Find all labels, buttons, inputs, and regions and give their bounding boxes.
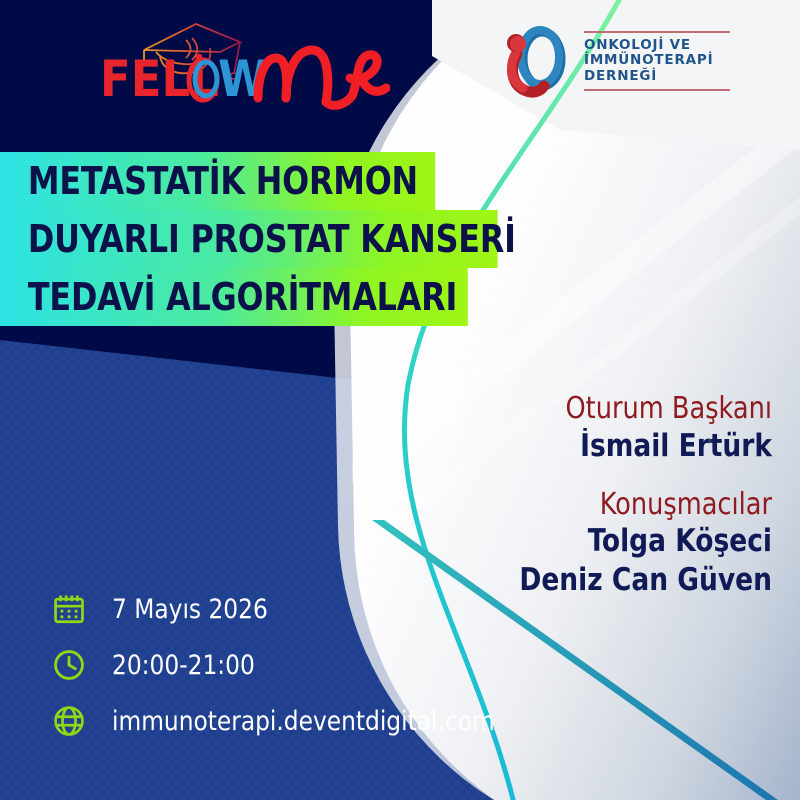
- calendar-icon: [52, 592, 86, 626]
- event-date: 7 Mayıs 2026: [112, 594, 268, 625]
- association-logo: ONKOLOJİ VE İMMÜNOTERAPİ DERNEĞİ: [498, 20, 718, 102]
- speakers-gap: [352, 466, 772, 488]
- page-title: METASTATİK HORMON DUYARLI PROSTAT KANSER…: [0, 152, 535, 326]
- fellowme-logo: FELL W: [100, 18, 390, 110]
- speaker-name-1: Tolga Köşeci: [373, 522, 772, 561]
- title-line-2: DUYARLI PROSTAT KANSERİ: [0, 210, 498, 268]
- clock-icon: [52, 648, 86, 682]
- globe-icon: [52, 704, 86, 738]
- chair-name: İsmail Ertürk: [373, 427, 772, 466]
- speakers-block: Oturum Başkanı İsmail Ertürk Konuşmacıla…: [352, 392, 772, 600]
- assoc-rule-top: [584, 31, 730, 33]
- assoc-line-3: DERNEĞİ: [584, 69, 730, 85]
- info-row-website[interactable]: immunoterapi.deventdigital.com: [52, 704, 511, 738]
- title-line-3: TEDAVİ ALGORİTMALARI: [0, 268, 468, 326]
- info-row-date: 7 Mayıs 2026: [52, 592, 511, 626]
- assoc-lines: ONKOLOJİ VE İMMÜNOTERAPİ DERNEĞİ: [584, 35, 730, 88]
- chair-label: Oturum Başkanı: [373, 392, 772, 427]
- assoc-rule-bottom: [584, 89, 730, 91]
- event-info: 7 Mayıs 2026 20:00-21:00 immunoterapi.de…: [52, 592, 511, 738]
- event-website[interactable]: immunoterapi.deventdigital.com: [112, 706, 495, 737]
- association-logo-text: ONKOLOJİ VE İMMÜNOTERAPİ DERNEĞİ: [584, 31, 730, 91]
- event-poster: FELL W: [0, 0, 800, 800]
- io-monogram-icon: [498, 24, 572, 98]
- assoc-line-1: ONKOLOJİ VE: [584, 38, 730, 54]
- assoc-line-2: İMMÜNOTERAPİ: [584, 53, 730, 69]
- title-line-1: METASTATİK HORMON: [0, 152, 435, 210]
- info-row-time: 20:00-21:00: [52, 648, 511, 682]
- event-time: 20:00-21:00: [112, 650, 255, 681]
- speakers-label: Konuşmacılar: [373, 488, 772, 523]
- fellowme-script-me: [258, 50, 386, 105]
